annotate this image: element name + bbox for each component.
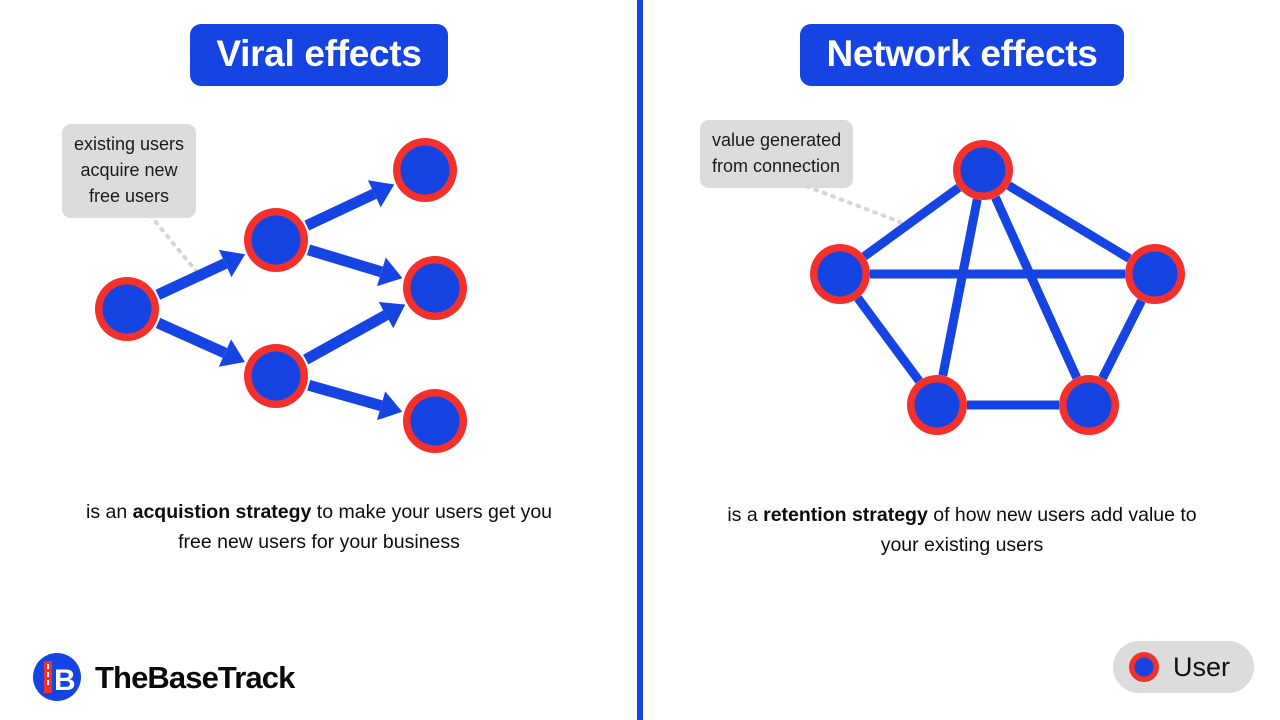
network-caption-suffix: of how new users add value to your exist… — [881, 504, 1197, 556]
user-node-core — [818, 252, 863, 297]
graph-edge — [858, 298, 919, 381]
user-node-core — [961, 148, 1006, 193]
user-node — [810, 244, 870, 304]
network-effects-svg — [0, 0, 1280, 480]
viral-caption: is an acquistion strategy to make your u… — [69, 498, 569, 557]
graph-edge — [943, 199, 977, 375]
network-caption: is a retention strategy of how new users… — [712, 501, 1212, 560]
graph-edge — [1009, 186, 1130, 259]
network-callout-line-2: from connection — [712, 153, 841, 179]
svg-text:B: B — [54, 664, 76, 697]
user-node-core — [915, 383, 960, 428]
network-callout: value generated from connection — [700, 120, 853, 188]
brand-logo: B TheBaseTrack — [32, 652, 294, 702]
user-node — [953, 140, 1013, 200]
network-caption-bold: retention strategy — [763, 504, 928, 526]
user-node-core — [1067, 383, 1112, 428]
user-node — [1125, 244, 1185, 304]
user-node-icon — [1127, 650, 1161, 684]
graph-edge — [1102, 301, 1141, 378]
network-callout-line-1: value generated — [712, 127, 841, 153]
legend-user-label: User — [1173, 654, 1230, 681]
brand-logo-text: TheBaseTrack — [95, 662, 294, 693]
user-node — [1059, 375, 1119, 435]
viral-caption-prefix: is an — [86, 501, 133, 523]
legend-user: User — [1113, 641, 1254, 693]
graph-edge — [864, 188, 958, 257]
b-circle-icon: B — [32, 652, 82, 702]
viral-caption-bold: acquistion strategy — [133, 501, 312, 523]
user-node — [907, 375, 967, 435]
network-caption-prefix: is a — [727, 504, 763, 526]
user-node-core — [1133, 252, 1178, 297]
